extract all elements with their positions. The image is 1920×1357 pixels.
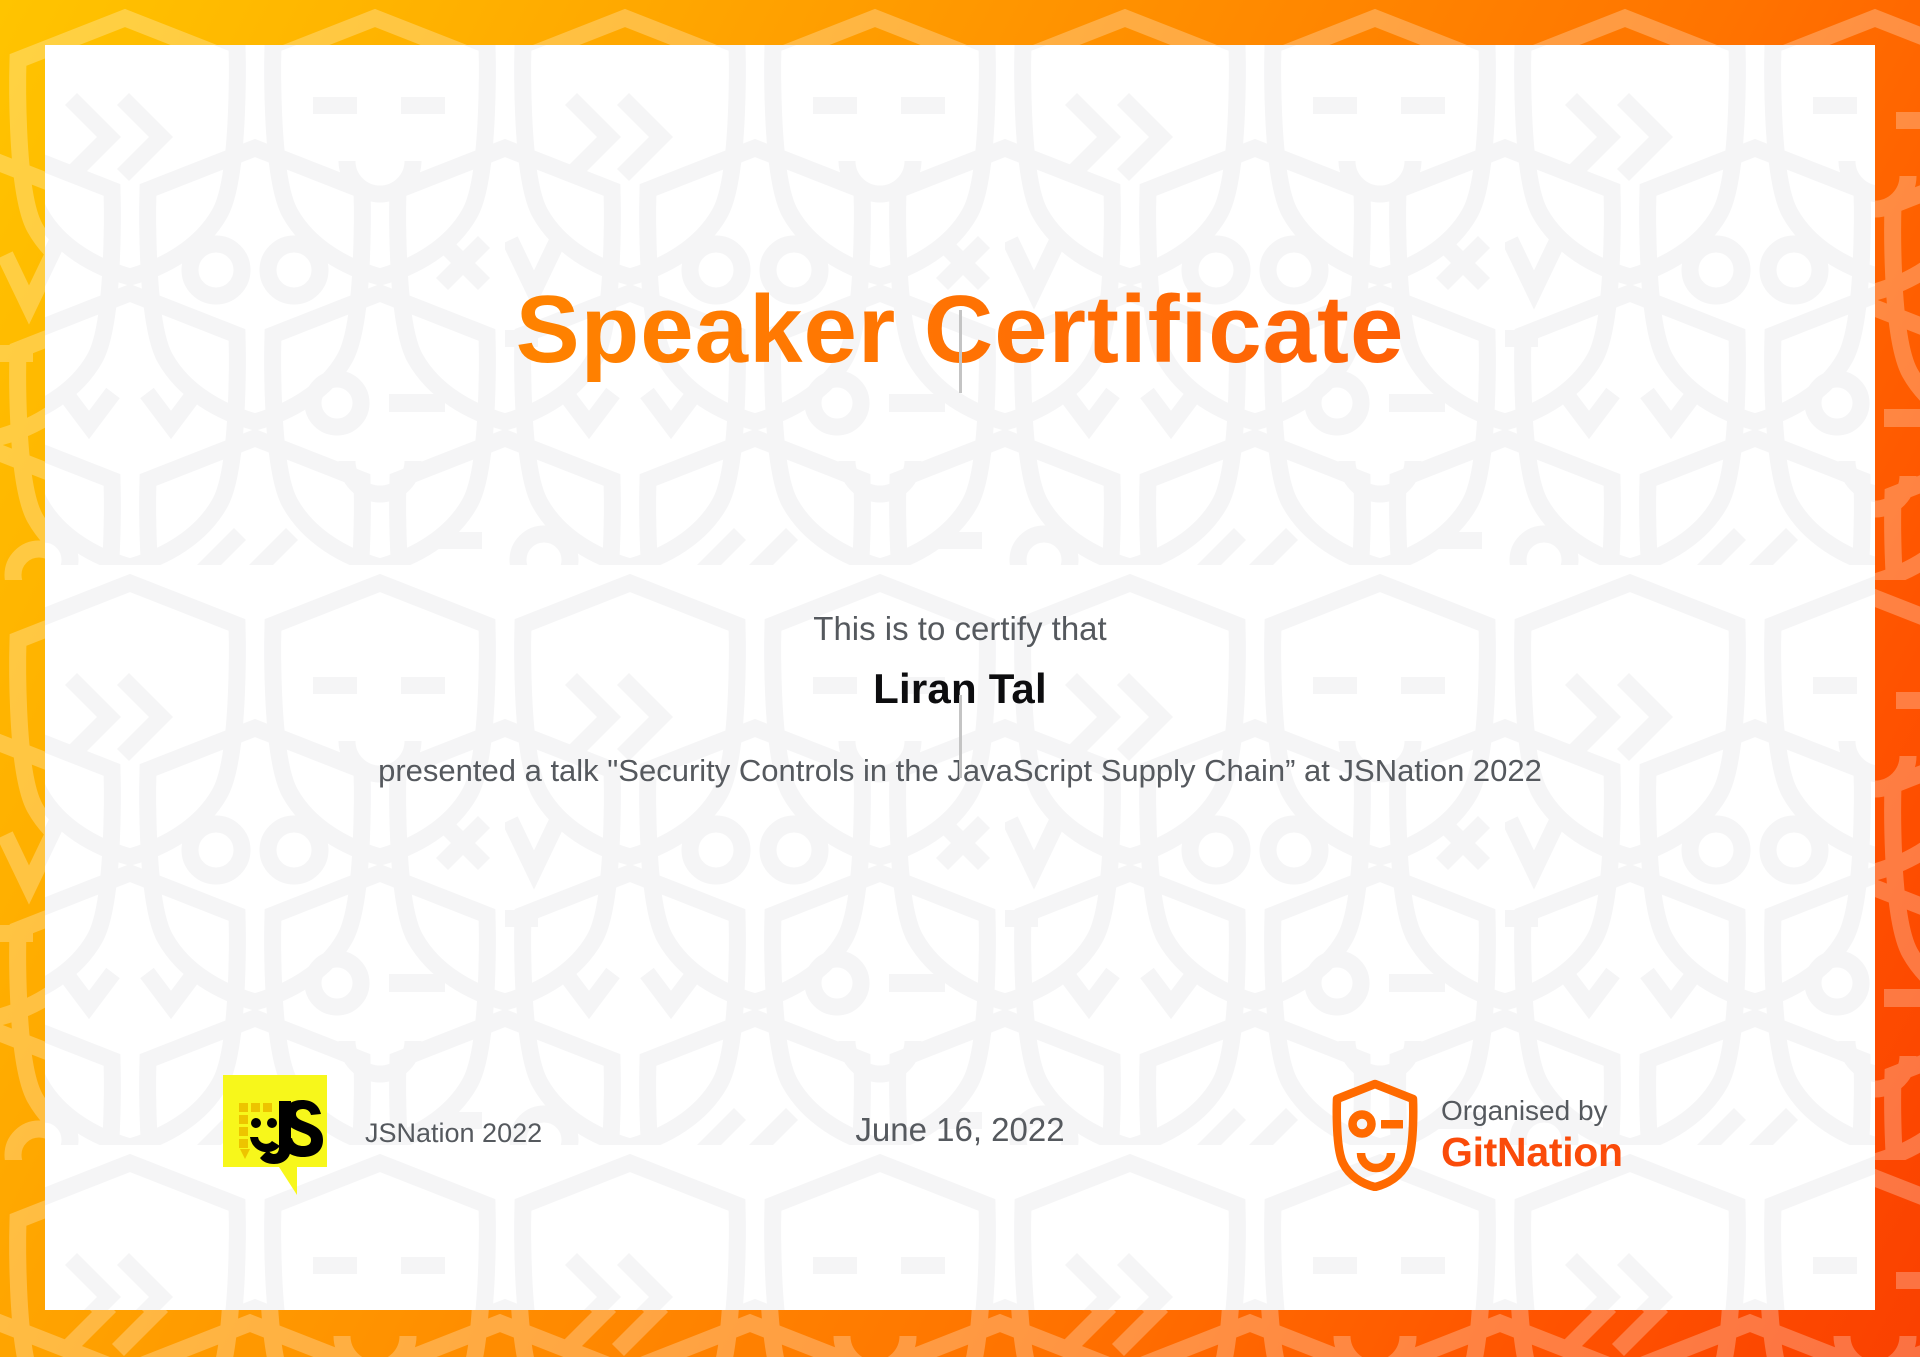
certify-line: This is to certify that	[45, 610, 1875, 648]
divider-top	[959, 310, 962, 393]
organiser-name: GitNation	[1441, 1128, 1623, 1177]
divider-bottom	[959, 695, 962, 778]
certificate-page: Speaker Certificate This is to certify t…	[0, 0, 1920, 1357]
gitnation-shield-wink-face-icon	[1331, 1079, 1419, 1191]
gitnation-organiser-block: Organised by GitNation	[1331, 1065, 1623, 1205]
certificate-card: Speaker Certificate This is to certify t…	[45, 45, 1875, 1310]
certificate-footer: JSNation 2022 June 16, 2022 Organised by…	[45, 1065, 1875, 1205]
organised-by-label: Organised by	[1441, 1093, 1623, 1128]
